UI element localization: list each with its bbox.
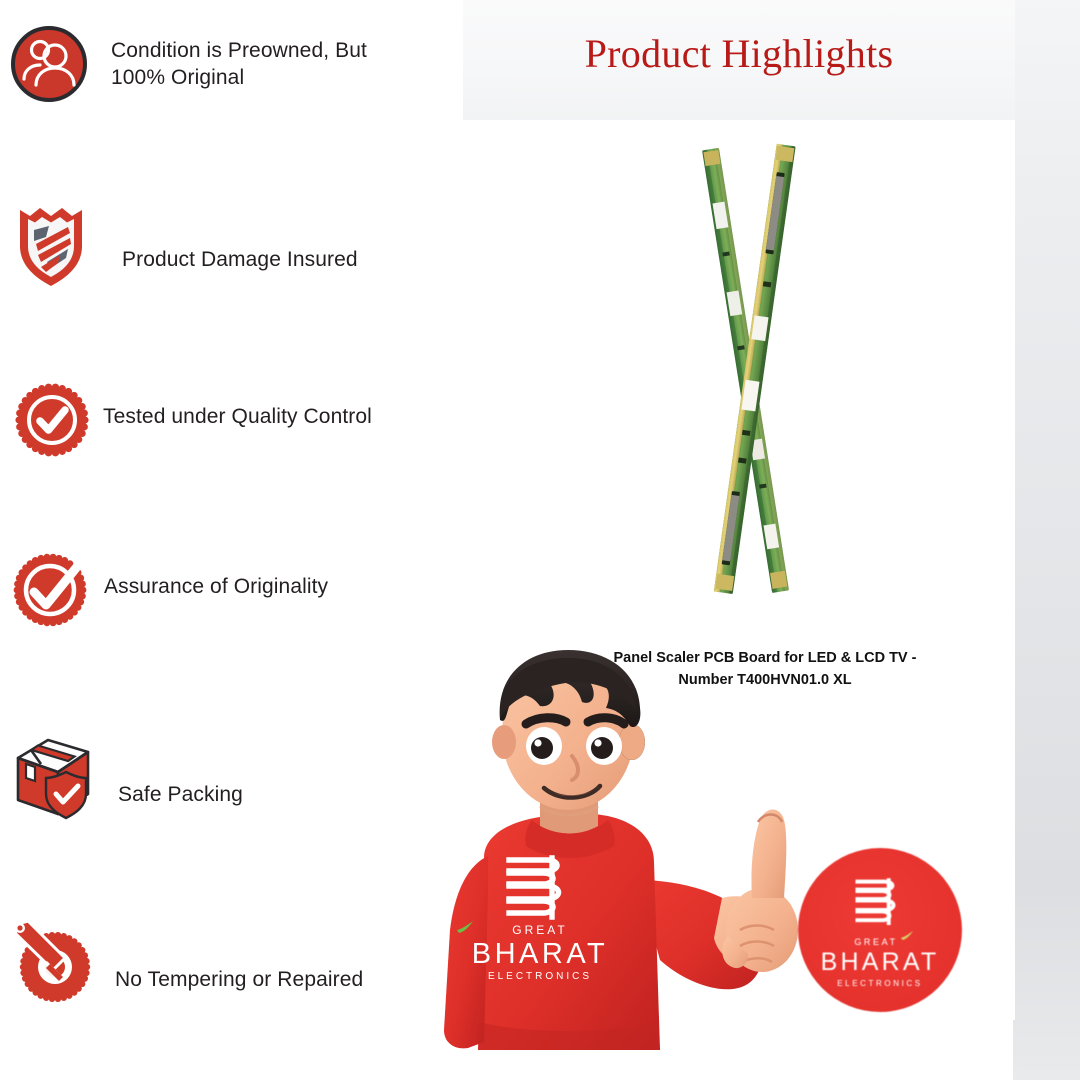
box-shield-icon [8, 728, 100, 820]
badge-b-logo-mark [853, 878, 907, 926]
shirt-logo-great: GREAT [512, 923, 567, 937]
badge-logo-bharat: BHARAT [821, 950, 940, 975]
feature-list: Condition is Preowned, But 100% Original… [0, 0, 460, 1080]
feature-item-assurance-originality[interactable]: Assurance of Originality [8, 548, 328, 626]
shield-icon [8, 200, 94, 292]
feature-label: Condition is Preowned, But 100% Original [111, 37, 411, 92]
seal-check-icon [8, 548, 86, 626]
right-edge-gradient-band [1013, 0, 1080, 1080]
feature-label: Safe Packing [118, 781, 243, 808]
b-logo-mark [503, 855, 577, 921]
feature-item-damage-insured[interactable]: Product Damage Insured [8, 200, 358, 292]
feature-label: Tested under Quality Control [103, 403, 372, 430]
feature-item-quality-control[interactable]: Tested under Quality Control [10, 378, 372, 456]
page-title: Product Highlights [463, 30, 1015, 77]
feature-item-no-tempering[interactable]: No Tempering or Repaired [5, 915, 363, 1007]
logo-badge: GREAT BHARAT ELECTRONICS [798, 848, 962, 1012]
badge-check-icon [10, 378, 88, 456]
green-check-accent [456, 921, 474, 933]
feature-item-safe-packing[interactable]: Safe Packing [8, 728, 243, 820]
product-image [633, 140, 863, 600]
shirt-logo-bharat: BHARAT [455, 939, 625, 969]
feature-label: No Tempering or Repaired [115, 966, 363, 993]
users-icon [10, 25, 88, 103]
badge-green-check-accent [900, 931, 914, 940]
badge-logo-great: GREAT [854, 937, 897, 947]
shirt-logo: GREAT BHARAT ELECTRONICS [455, 855, 625, 1015]
badge-logo-electronics: ELECTRONICS [837, 979, 923, 988]
feature-item-condition[interactable]: Condition is Preowned, But 100% Original [10, 25, 411, 103]
shirt-logo-electronics: ELECTRONICS [455, 971, 625, 982]
feature-label: Assurance of Originality [104, 573, 328, 600]
wrench-gear-icon [5, 915, 97, 1007]
feature-label: Product Damage Insured [122, 246, 358, 273]
